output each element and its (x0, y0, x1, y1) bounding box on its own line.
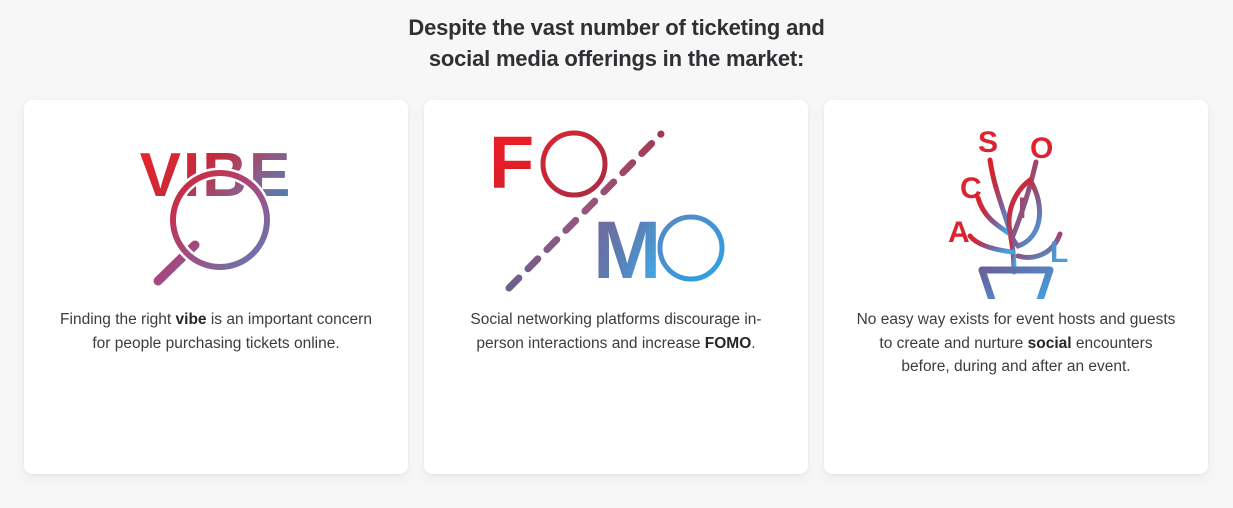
plant-letter-i: I (1018, 192, 1026, 225)
plant-letter-o: O (1030, 132, 1053, 165)
text-part-plain: Finding the right (60, 311, 175, 328)
svg-text:M: M (593, 205, 661, 296)
svg-text:F: F (489, 121, 534, 204)
card-fomo-text: Social networking platforms discourage i… (456, 308, 776, 355)
plant-letter-s: S (978, 126, 998, 159)
social-plant-icon: S O C I A L (824, 100, 1208, 300)
text-part-bold: FOMO (705, 335, 752, 352)
card-fomo: F M (424, 100, 808, 474)
text-part-plain: . (751, 335, 755, 352)
card-vibe: VIBE Finding the right vibe is an import… (24, 100, 408, 474)
text-part-bold: social (1028, 335, 1072, 352)
text-part-bold: vibe (176, 311, 207, 328)
infographic-page: Despite the vast number of ticketing and… (0, 0, 1233, 508)
page-title: Despite the vast number of ticketing and… (0, 12, 1233, 74)
plant-letter-l: L (1050, 236, 1068, 269)
card-social: S O C I A L No easy way exists for event… (824, 100, 1208, 474)
plant-letter-a: A (948, 216, 970, 249)
card-social-text: No easy way exists for event hosts and g… (856, 308, 1176, 379)
card-row: VIBE Finding the right vibe is an import… (24, 100, 1209, 474)
page-title-line-1: Despite the vast number of ticketing and (0, 12, 1233, 43)
card-vibe-text: Finding the right vibe is an important c… (56, 308, 376, 355)
plant-letter-c: C (960, 172, 982, 205)
vibe-magnifier-icon: VIBE (24, 100, 408, 300)
fomo-crossed-out-icon: F M (424, 100, 808, 300)
page-title-line-2: social media offerings in the market: (0, 43, 1233, 74)
